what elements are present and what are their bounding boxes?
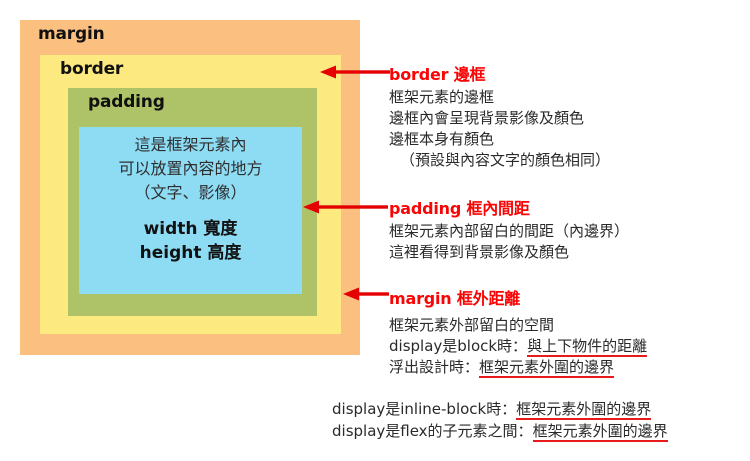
annotation-line: （預設與內容文字的顏色相同） [389,150,610,171]
annotation-line-emphasis: 與上下物件的距離 [527,337,647,357]
content-text-line: （文字、影像） [79,181,302,205]
content-dimensions: width 寬度 height 高度 [79,217,302,265]
annotation-body-margin: 框架元素外部留白的空間 display是block時：與上下物件的距離 浮出設計… [389,315,647,378]
footer-line-emphasis: 框架元素外圍的邊界 [533,422,668,442]
margin-box-label: margin [38,24,104,44]
footer-line: display是flex的子元素之間：框架元素外圍的邊界 [332,420,668,442]
annotation-line: 邊框內會呈現背景影像及顏色 [389,108,610,129]
footer-line-emphasis: 框架元素外圍的邊界 [516,400,651,420]
content-text-line: 可以放置內容的地方 [79,157,302,181]
border-box-region: border padding 這是框架元素內 可以放置內容的地方 （文字、影像）… [40,55,341,334]
annotation-heading-padding: padding 框內間距 [389,195,530,219]
annotation-heading-border: border 邊框 [389,61,485,85]
annotation-body-padding: 框架元素內部留白的間距（內邊界） 這裡看得到背景影像及顏色 [389,221,629,263]
footer-line-prefix: display是flex的子元素之間： [332,422,533,440]
border-box-label: border [60,59,123,79]
padding-box-region: padding 這是框架元素內 可以放置內容的地方 （文字、影像） width … [68,88,317,316]
content-box-region: 這是框架元素內 可以放置內容的地方 （文字、影像） width 寬度 heigh… [79,127,302,294]
annotation-line-prefix: display是block時： [389,337,527,355]
box-model-diagram: margin border padding 這是框架元素內 可以放置內容的地方 … [20,20,360,355]
annotation-body-border: 框架元素的邊框 邊框內會呈現背景影像及顏色 邊框本身有顏色 （預設與內容文字的顏… [389,87,610,171]
annotation-line-prefix: 浮出設計時： [389,358,479,376]
annotation-line: 框架元素內部留白的間距（內邊界） [389,221,629,242]
footer-line-prefix: display是inline-block時： [332,400,516,418]
content-height-label: height 高度 [79,241,302,265]
annotation-line: 框架元素的邊框 [389,87,610,108]
annotation-line: 浮出設計時：框架元素外圍的邊界 [389,357,647,378]
content-text-line: 這是框架元素內 [79,133,302,157]
annotation-line: display是block時：與上下物件的距離 [389,336,647,357]
annotation-line: 邊框本身有顏色 [389,129,610,150]
footer-notes: display是inline-block時：框架元素外圍的邊界 display是… [332,398,668,442]
annotation-line-emphasis: 框架元素外圍的邊界 [479,358,614,378]
annotation-line: 框架元素外部留白的空間 [389,315,647,336]
annotation-line: 這裡看得到背景影像及顏色 [389,242,629,263]
annotation-heading-margin: margin 框外距離 [389,285,520,309]
footer-line: display是inline-block時：框架元素外圍的邊界 [332,398,668,420]
content-width-label: width 寬度 [79,217,302,241]
padding-box-label: padding [88,92,165,112]
